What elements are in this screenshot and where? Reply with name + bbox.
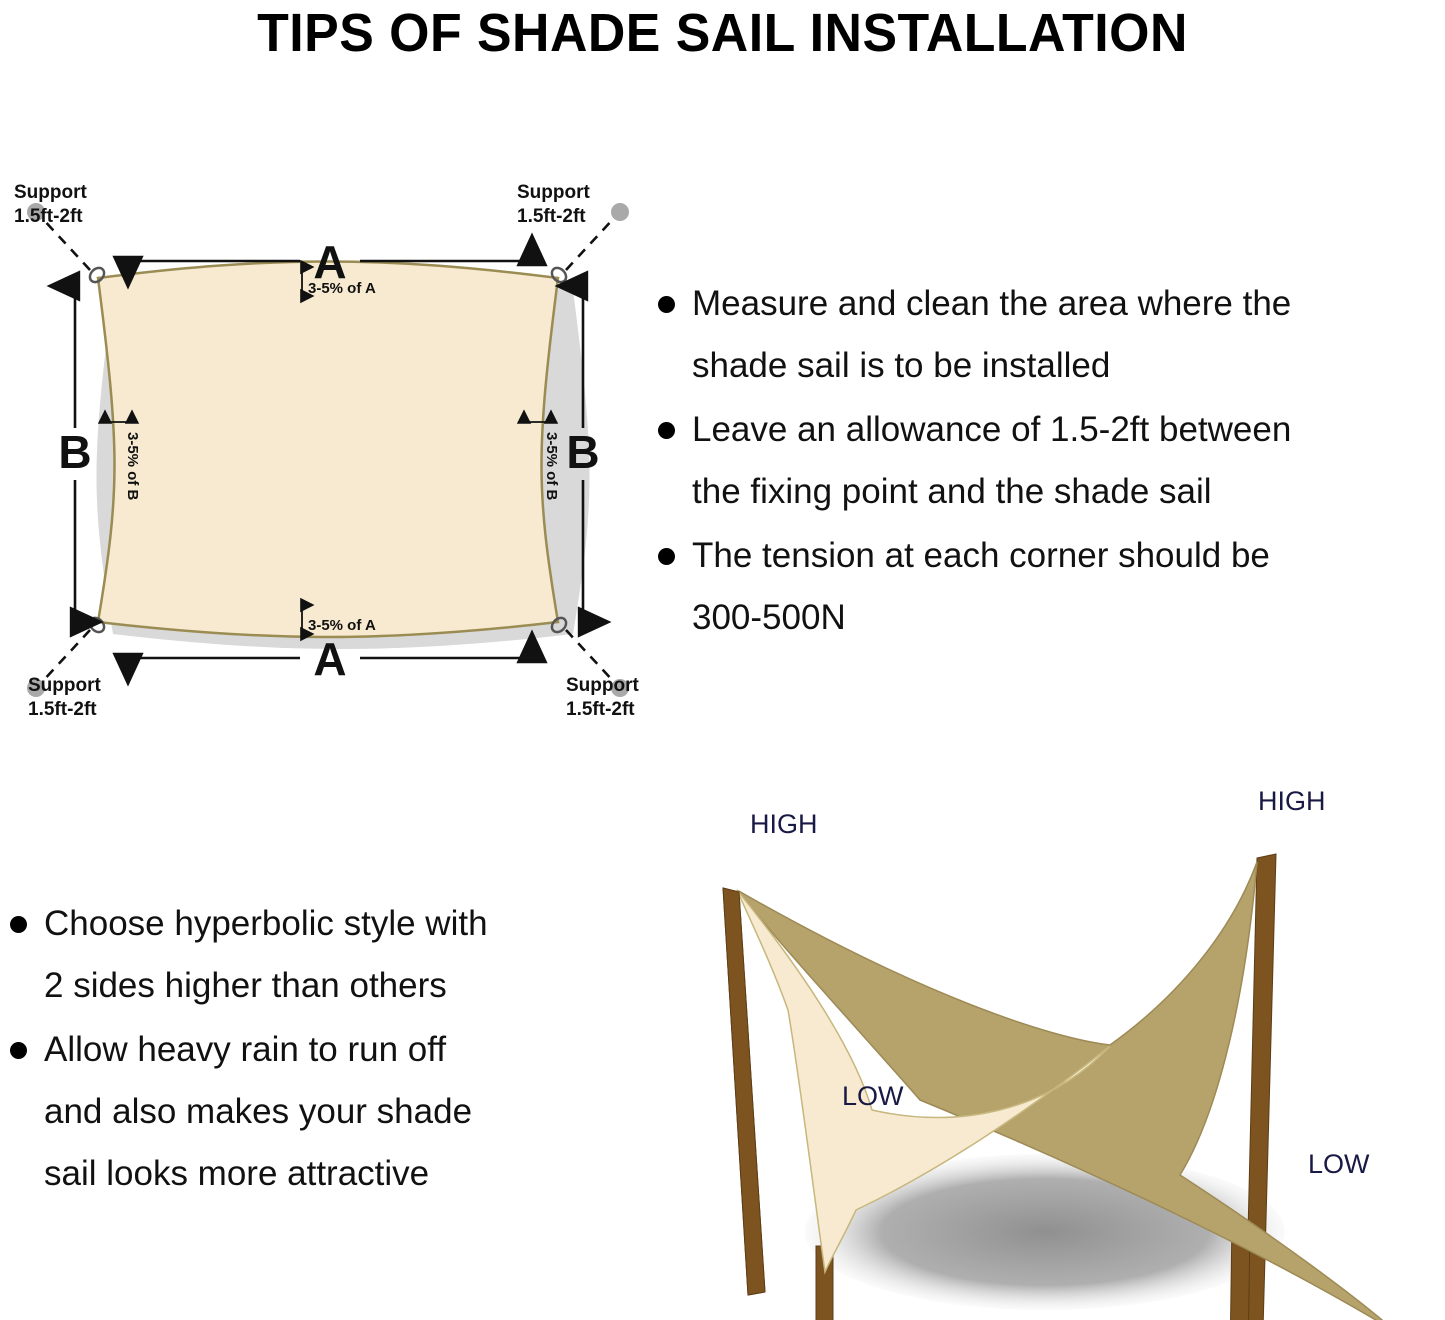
list-item: Measure and clean the area where the sha… [648, 273, 1445, 397]
support-label-top-right-line2: 1.5ft-2ft [517, 206, 586, 227]
dimension-label-a-bottom: A [313, 633, 346, 685]
curvature-right-label: 3-5% of B [543, 432, 560, 501]
pole-high-left-front [723, 888, 765, 1295]
label-low-right: LOW [1308, 1149, 1370, 1179]
support-label-top-right-line1: Support [517, 182, 590, 203]
dimension-label-b-left: B [58, 426, 91, 478]
curvature-top-label: 3-5% of A [308, 280, 376, 297]
list-item: The tension at each corner should be 300… [648, 525, 1445, 649]
installation-tips-list-right: Measure and clean the area where the sha… [648, 273, 1445, 651]
shade-sail-shape [98, 262, 558, 638]
label-high-left: HIGH [750, 809, 818, 839]
support-label-bottom-right-line1: Support [566, 675, 639, 696]
hyperbolic-sail-diagram: HIGH HIGH LOW LOW [620, 780, 1445, 1320]
curvature-left-label: 3-5% of B [124, 432, 141, 501]
support-label-top-left-line1: Support [14, 182, 87, 203]
support-label-bottom-right-line2: 1.5ft-2ft [566, 699, 635, 720]
rectangle-sail-diagram: A A B B 3-5% of A [0, 150, 660, 730]
installation-tips-list-bottom: Choose hyperbolic style with 2 sides hig… [0, 893, 625, 1207]
list-item: Choose hyperbolic style with 2 sides hig… [0, 893, 625, 1017]
label-low-left: LOW [842, 1081, 904, 1111]
curvature-bottom-label: 3-5% of A [308, 617, 376, 634]
list-item: Allow heavy rain to run off and also mak… [0, 1019, 625, 1205]
dimension-label-b-right: B [566, 426, 599, 478]
label-high-right: HIGH [1258, 786, 1326, 816]
list-item: Leave an allowance of 1.5-2ft between th… [648, 399, 1445, 523]
support-label-bottom-left-line2: 1.5ft-2ft [28, 699, 97, 720]
page-title: TIPS OF SHADE SAIL INSTALLATION [29, 2, 1416, 64]
support-label-bottom-left-line1: Support [28, 675, 101, 696]
support-label-top-left-line2: 1.5ft-2ft [14, 206, 83, 227]
infographic-page: TIPS OF SHADE SAIL INSTALLATION [0, 0, 1445, 1319]
